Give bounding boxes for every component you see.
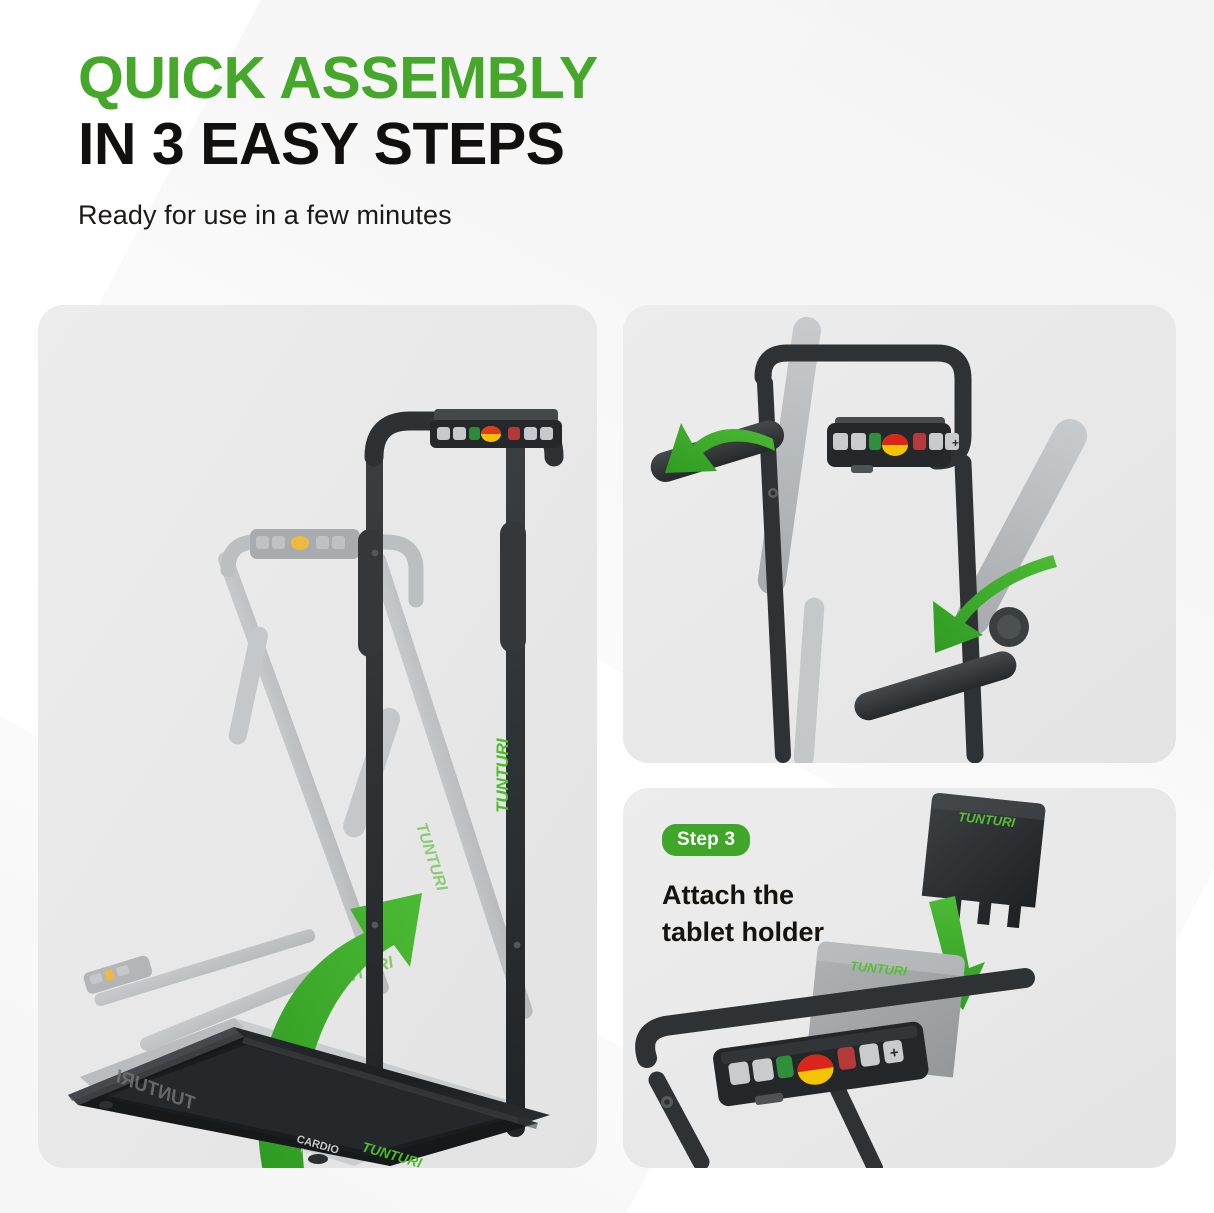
console-module-1	[430, 409, 562, 448]
step-2-illustration: +	[623, 305, 1176, 763]
step-1-illustration: TUNTURI TUNTURI	[38, 305, 597, 1168]
page-subtitle: Ready for use in a few minutes	[78, 200, 598, 231]
page-title-line2: IN 3 EASY STEPS	[78, 114, 598, 174]
svg-text:+: +	[952, 436, 959, 450]
step-3-badge: Step 3	[662, 824, 750, 856]
step-3-title-line2: tablet holder	[662, 915, 824, 950]
step-3-text-block: Step 3 Attach the tablet holder	[662, 824, 824, 949]
page-header: QUICK ASSEMBLY IN 3 EASY STEPS Ready for…	[78, 48, 598, 231]
step-card-3: TUNTURI TUNTURI	[623, 788, 1176, 1168]
step-card-2: + Step 2 Unfold the hand supports	[623, 305, 1176, 763]
svg-text:TUNTURI: TUNTURI	[493, 737, 512, 813]
console-module-2: +	[827, 417, 959, 473]
step-3-title-line1: Attach the	[662, 878, 824, 913]
step-card-1: TUNTURI TUNTURI	[38, 305, 597, 1168]
ghost-console	[250, 529, 360, 559]
page-title-line1: QUICK ASSEMBLY	[78, 48, 598, 108]
